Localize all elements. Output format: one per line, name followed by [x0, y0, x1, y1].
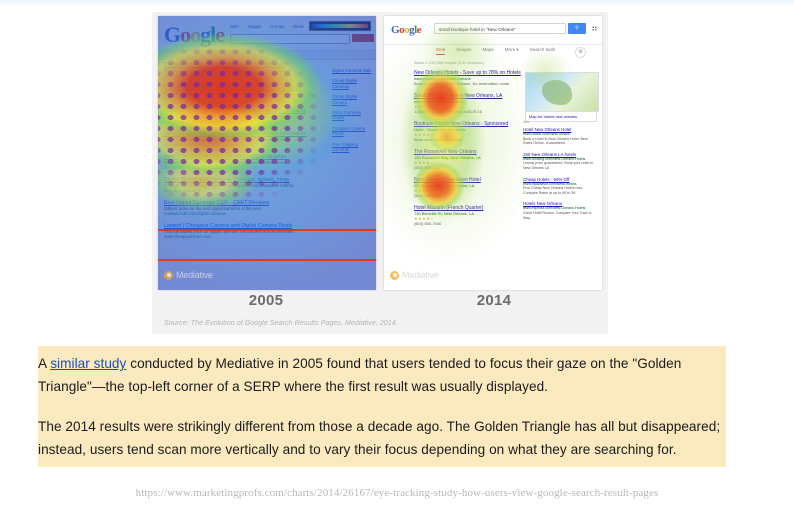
similar-study-link[interactable]: similar study	[50, 356, 126, 371]
top-accent-band	[0, 0, 794, 6]
serp-2014-search-button[interactable]: ⚲	[568, 23, 586, 34]
gaze-fixation-dots-2005	[158, 16, 376, 290]
source-url[interactable]: https://www.marketingprofs.com/charts/20…	[0, 487, 794, 499]
paragraph-one-lead: A	[38, 356, 50, 371]
search-result[interactable]: New Orleans Downtown Hotel 225 Baronne S…	[414, 177, 532, 198]
paragraph-one: A similar study conducted by Mediative i…	[38, 352, 726, 398]
sponsored-ad[interactable]: Cheap Hotels - 50% Off www.tripadvisor.c…	[523, 177, 597, 196]
ad-description: Great Hotel Rooms. Compare Your Town & S…	[523, 211, 597, 220]
tab-search-tools[interactable]: Search tools	[530, 47, 556, 55]
google-logo-2014: Google	[391, 24, 421, 36]
figure-source-credit: Source: The Evolution of Google Search R…	[164, 318, 396, 327]
logo-letter-e: e	[417, 24, 421, 36]
eye-tracking-figure: Google Web Images Groups News Froogle mo…	[152, 12, 608, 334]
tab-more[interactable]: More ▾	[505, 47, 519, 55]
logo-letter-g1: G	[391, 24, 399, 36]
paragraph-one-rest: conducted by Mediative in 2005 found tha…	[38, 356, 681, 394]
scan-divider-line	[158, 259, 376, 261]
result-stats: About 1,230,000 results (0.41 seconds)	[414, 60, 484, 65]
search-result[interactable]: Hotel Mazarin (French Quarter) 730 Bienv…	[414, 205, 532, 226]
serp-2014-ad-column: Ads Hotel New Orleans Hotel www.hotels.c…	[523, 120, 597, 226]
highlighted-text-block: A similar study conducted by Mediative i…	[38, 346, 726, 467]
result-description: (504) 555-1111	[414, 165, 532, 170]
mediative-watermark: Mediative	[164, 270, 213, 280]
tab-maps[interactable]: Maps	[482, 47, 493, 55]
serp-screenshot-2014: Google small boutique hotel in "New Orle…	[384, 16, 602, 290]
result-description: Book your hotel in New Orleans. No reser…	[414, 81, 532, 86]
sponsored-ad[interactable]: 150 New Orleans LA hotels www.booking.co…	[523, 152, 597, 171]
scan-divider-line	[158, 229, 376, 231]
search-result[interactable]: Boutique Hotels New Orleans - Sponsored …	[414, 121, 532, 142]
heatmap-panel-2014[interactable]: Google small boutique hotel in "New Orle…	[384, 16, 602, 290]
paragraph-two: The 2014 results were strikingly differe…	[38, 415, 726, 461]
ad-description: Book a Hotel in New Orleans Hotel. Best …	[523, 137, 597, 146]
serp-2014-results: New Orleans Hotels - Save up to 78% on H…	[414, 70, 532, 233]
heatmap-panel-2005[interactable]: Google Web Images Groups News Froogle mo…	[158, 16, 376, 290]
mediative-watermark-label: Mediative	[402, 270, 439, 280]
year-caption-2005: 2005	[152, 292, 380, 309]
search-result[interactable]: Small Boutique Hotels New Orleans, LA ww…	[414, 93, 532, 114]
ads-label: Ads	[523, 120, 597, 124]
sponsored-ad[interactable]: Hotels New Orleans www.expedia.com/New-O…	[523, 201, 597, 220]
result-description: (504) 555-9120	[414, 193, 532, 198]
ad-description: Find Cheap New Orleans Hotels now. Compa…	[523, 186, 597, 195]
serp-2014-tabs[interactable]: Web Images Maps More ▾ Search tools	[436, 47, 555, 55]
ad-description: Lowest price guaranteed. Book your hotel…	[523, 161, 597, 170]
search-result[interactable]: The Roosevelt New Orleans 130 Roosevelt …	[414, 149, 532, 170]
search-result[interactable]: New Orleans Hotels - Save up to 78% on H…	[414, 70, 532, 86]
map-card[interactable]: Map for hotels new orleans	[525, 72, 597, 122]
mediative-logo-icon	[164, 271, 173, 280]
figure-year-captions: 2005 2014	[152, 292, 608, 309]
grid-icon[interactable]	[592, 26, 597, 31]
result-description: Book direct and save today	[414, 137, 532, 142]
year-caption-2014: 2014	[380, 292, 608, 309]
gear-icon[interactable]: ⚙	[575, 47, 586, 58]
serp-2014-search-input[interactable]: small boutique hotel in "New Orleans"	[434, 23, 566, 34]
tab-images[interactable]: Images	[456, 47, 471, 55]
mediative-logo-icon	[390, 271, 399, 280]
tab-web[interactable]: Web	[436, 47, 445, 55]
heatmap-panels: Google Web Images Groups News Froogle mo…	[152, 12, 608, 290]
mediative-watermark: Mediative	[390, 270, 439, 280]
result-description: 1-(800) 555-0190 · Starting at $119.16	[414, 109, 532, 114]
sponsored-ad[interactable]: Hotel New Orleans Hotel www.hotels.com/N…	[523, 127, 597, 146]
mediative-watermark-label: Mediative	[176, 270, 213, 280]
map-thumbnail-image[interactable]	[525, 72, 599, 112]
result-description: (504) 555-7040	[414, 221, 532, 226]
